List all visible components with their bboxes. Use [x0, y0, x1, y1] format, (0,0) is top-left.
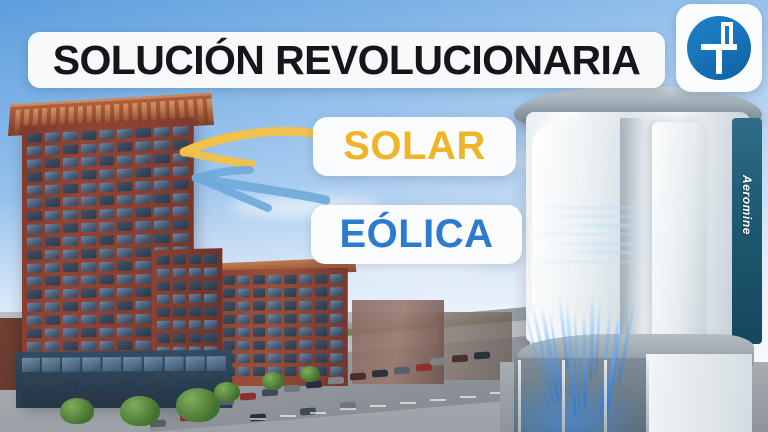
tower-window — [45, 158, 60, 168]
building-window-row — [218, 274, 348, 285]
building-window — [238, 367, 250, 376]
tower-window — [136, 168, 151, 178]
brand-logo-badge — [676, 4, 762, 92]
secondary-building — [218, 268, 348, 386]
airflow-streak-horizontal — [526, 260, 676, 263]
tower-window — [136, 221, 151, 231]
tower-window — [81, 262, 96, 271]
tower-window — [157, 269, 170, 278]
tower-window — [81, 144, 96, 154]
building-window — [223, 289, 235, 298]
turbine-strut — [518, 360, 521, 432]
tower-window — [99, 328, 114, 337]
tower-window — [136, 208, 151, 218]
building-window — [330, 314, 342, 323]
tower-window — [45, 315, 60, 324]
building-window — [238, 328, 250, 337]
logo-t-mark-icon — [687, 16, 751, 80]
tower-window — [27, 198, 42, 208]
tower-window — [173, 233, 189, 243]
building-window — [330, 274, 342, 283]
building-window — [315, 314, 327, 323]
building-window — [268, 354, 280, 363]
tower-window — [45, 302, 60, 311]
tower-window — [63, 171, 78, 181]
tower-window — [81, 302, 96, 311]
podium-glass-panel — [207, 356, 226, 371]
building-window — [268, 341, 280, 350]
lane-marking — [310, 412, 326, 414]
tower-window — [27, 250, 42, 259]
tower-window — [136, 194, 151, 204]
tower-window — [63, 315, 78, 324]
building-window — [268, 288, 280, 297]
eolica-label: EÓLICA — [339, 212, 493, 257]
building-window — [284, 301, 296, 310]
building-window — [330, 340, 342, 349]
airflow-streak-horizontal — [526, 206, 676, 209]
parked-car — [328, 376, 344, 384]
building-window — [268, 301, 280, 310]
tower-window — [27, 316, 42, 325]
turbine-intake-duct — [532, 118, 628, 340]
tower-window — [136, 181, 151, 191]
tower-window — [136, 154, 151, 164]
building-window — [223, 341, 235, 350]
building-window — [299, 301, 311, 310]
tower-window — [136, 261, 151, 271]
turbine-fin — [652, 122, 706, 340]
tower-window — [99, 288, 114, 297]
tower-window — [27, 329, 42, 338]
tower-window — [27, 172, 42, 182]
building-window — [284, 354, 296, 363]
tower-window — [99, 262, 114, 272]
building-window — [299, 314, 311, 323]
building-window — [253, 301, 265, 310]
building-window — [315, 274, 327, 283]
building-window — [330, 327, 342, 336]
tower-window — [136, 341, 151, 350]
tower-window — [99, 143, 114, 153]
tower-window — [27, 303, 42, 312]
tower-window-row — [22, 233, 194, 247]
tower-window — [117, 195, 132, 205]
tower-window — [157, 282, 170, 291]
tower-window — [117, 261, 132, 271]
tower-window — [204, 267, 217, 276]
tower-window — [136, 327, 151, 336]
airflow-glow — [516, 378, 646, 432]
page-title: SOLUCIÓN REVOLUCIONARIA — [53, 37, 641, 84]
tower-window — [63, 263, 78, 272]
tower-window — [188, 268, 201, 277]
tower-window — [173, 294, 186, 303]
tower-window — [117, 155, 132, 165]
tower-window — [117, 248, 132, 258]
tower-window — [45, 289, 60, 298]
building-window — [284, 275, 296, 284]
podium-glass-panel — [22, 358, 40, 372]
tower-window — [117, 288, 132, 297]
tower-window — [45, 276, 60, 285]
street-tree — [120, 396, 160, 426]
tower-window — [81, 249, 96, 259]
building-window — [238, 354, 250, 363]
building-window — [299, 354, 311, 363]
tower-window — [81, 170, 96, 180]
eolica-arrow — [196, 170, 326, 208]
tower-window — [157, 321, 170, 330]
lane-marking — [250, 418, 266, 420]
tower-window — [99, 169, 114, 179]
tower-window — [63, 236, 78, 246]
lane-marking — [370, 405, 386, 407]
tower-window-row — [152, 294, 222, 304]
tower-window — [81, 315, 96, 324]
tower-window — [63, 302, 78, 311]
lane-marking — [280, 415, 296, 417]
tower-window — [99, 315, 114, 324]
building-window-row — [218, 367, 348, 376]
tower-window — [63, 210, 78, 220]
tower-window — [45, 224, 60, 234]
building-window — [299, 274, 311, 283]
building-window — [253, 341, 265, 350]
tower-window — [136, 301, 151, 310]
tower-window — [27, 159, 42, 169]
building-window — [253, 314, 265, 323]
building-window — [284, 314, 296, 323]
thumbnail-canvas: Aeromine SOLUCIÓN REVOLUCIONARIA SOLAR E… — [0, 0, 768, 432]
tower-window — [117, 221, 132, 231]
tower-window — [81, 157, 96, 167]
tower-window — [204, 333, 217, 342]
building-window — [299, 288, 311, 297]
building-window-row — [218, 340, 348, 350]
aeromine-turbine: Aeromine — [500, 78, 768, 432]
parked-car — [452, 354, 468, 362]
building-window — [315, 340, 327, 349]
building-window — [223, 302, 235, 311]
tower-window — [63, 341, 78, 350]
tower-window — [136, 314, 151, 323]
tower-window — [136, 128, 151, 138]
lane-marking — [400, 402, 416, 404]
lane-marking — [340, 408, 356, 410]
podium-glass-panel — [144, 357, 163, 371]
tower-window — [173, 321, 186, 330]
tower-window — [81, 223, 96, 233]
tower-window — [27, 133, 42, 143]
building-window — [268, 327, 280, 336]
tower-window — [99, 341, 114, 350]
tower-window — [204, 320, 217, 329]
tower-window — [188, 307, 201, 316]
tower-window — [81, 275, 96, 284]
parked-car — [284, 384, 300, 392]
tower-window — [63, 197, 78, 207]
building-window — [238, 275, 250, 284]
tower-window — [45, 237, 60, 246]
tower-window — [63, 158, 78, 168]
tower-window — [99, 156, 114, 166]
street-tree — [214, 382, 240, 402]
airflow-streak-horizontal — [544, 215, 668, 218]
airflow-streak-horizontal — [544, 242, 668, 245]
parked-car — [394, 366, 410, 374]
podium-glass-panel — [42, 358, 60, 372]
tower-window-row — [152, 333, 222, 343]
tower-window — [204, 307, 217, 316]
podium-glass-panel — [186, 356, 205, 371]
building-window — [268, 314, 280, 323]
airflow-streak-horizontal — [562, 224, 660, 227]
tower-window — [188, 294, 201, 303]
podium-glass-panel — [165, 357, 184, 372]
tower-window — [173, 255, 186, 264]
building-window — [299, 340, 311, 349]
tower-window — [157, 308, 170, 317]
building-window — [315, 327, 327, 336]
parked-car — [372, 369, 388, 377]
crown-slat — [14, 110, 21, 135]
building-window — [223, 276, 235, 285]
tower-window — [136, 274, 151, 284]
tower-window — [81, 130, 96, 140]
tower-window — [157, 256, 170, 265]
podium-glass-panel — [62, 357, 80, 371]
turbine-strut — [646, 360, 649, 432]
building-window — [284, 367, 296, 376]
tower-window — [188, 320, 201, 329]
annotation-arrows — [160, 112, 330, 232]
tower-window — [81, 183, 96, 193]
building-window — [253, 354, 265, 363]
parked-car — [350, 372, 366, 380]
building-window-row — [218, 314, 348, 324]
tower-window — [173, 268, 186, 277]
logo-circle-icon — [687, 16, 751, 80]
lane-marking — [460, 396, 476, 398]
tower-window — [188, 281, 201, 290]
tower-window — [45, 145, 60, 155]
building-window — [284, 340, 296, 349]
building-window — [284, 288, 296, 297]
building-window — [238, 341, 250, 350]
tower-window — [117, 129, 132, 139]
tower-window — [173, 307, 186, 316]
tower-window — [27, 224, 42, 233]
tower-window — [188, 255, 201, 264]
tower-window — [27, 146, 42, 156]
tower-window — [63, 184, 78, 194]
street-tree — [60, 398, 94, 424]
building-window — [315, 287, 327, 296]
tower-window — [63, 249, 78, 258]
tower-window — [117, 168, 132, 178]
building-window — [223, 328, 235, 337]
tower-window — [117, 235, 132, 245]
tower-window — [27, 185, 42, 195]
building-window — [315, 301, 327, 310]
tower-window — [81, 196, 96, 206]
lane-marking — [430, 399, 446, 401]
building-window — [253, 328, 265, 337]
tower-window — [204, 254, 217, 263]
turbine-strut — [562, 360, 565, 432]
tower-window — [45, 211, 60, 221]
tower-window — [136, 141, 151, 151]
tower-window — [136, 287, 151, 296]
tower-window — [204, 294, 217, 303]
tower-window — [81, 328, 96, 337]
tower-window — [117, 208, 132, 218]
tower-window-row — [152, 307, 222, 317]
building-window — [330, 353, 342, 362]
tower-window — [81, 341, 96, 350]
tower-window — [136, 247, 151, 257]
tower-window — [63, 289, 78, 298]
building-window — [253, 288, 265, 297]
building-window — [330, 287, 342, 296]
tower-window — [99, 275, 114, 284]
building-window — [223, 315, 235, 324]
building-window — [330, 367, 342, 376]
building-window — [253, 275, 265, 284]
tower-window — [99, 196, 114, 206]
tower-window — [99, 248, 114, 258]
tower-window — [99, 182, 114, 192]
tower-window — [188, 333, 201, 342]
solar-arrow — [184, 131, 318, 164]
tower-window — [45, 250, 60, 259]
podium-glass-panel — [103, 357, 121, 371]
turbine-brand-label: Aeromine — [734, 130, 760, 280]
solar-label: SOLAR — [343, 124, 486, 169]
building-window — [284, 327, 296, 336]
tower-window — [45, 185, 60, 195]
brand-text: Aeromine — [740, 175, 754, 235]
tower-window — [99, 301, 114, 310]
solar-label-pill: SOLAR — [313, 117, 516, 176]
building-window — [268, 275, 280, 284]
tower-window — [117, 182, 132, 192]
tower-window — [99, 130, 114, 140]
tower-window — [81, 288, 96, 297]
title-banner: SOLUCIÓN REVOLUCIONARIA — [28, 32, 665, 88]
tower-window — [99, 235, 114, 245]
tower-window — [45, 171, 60, 181]
tower-window-row — [152, 267, 222, 278]
tower-window — [27, 290, 42, 299]
tower-window — [45, 198, 60, 208]
podium-glass-panel — [123, 357, 142, 371]
tower-window — [117, 341, 132, 350]
tower-window — [63, 131, 78, 141]
tower-window — [81, 209, 96, 219]
street-tree — [262, 372, 284, 390]
tower-window — [204, 281, 217, 290]
tower-window — [173, 334, 186, 343]
building-window — [315, 353, 327, 362]
parked-car — [474, 351, 490, 359]
podium-glass-panel — [82, 357, 100, 371]
tower-window — [157, 334, 170, 343]
tower-window — [27, 277, 42, 286]
parked-car — [430, 357, 446, 365]
tower-window — [27, 264, 42, 273]
tower-window — [157, 295, 170, 304]
building-window — [299, 327, 311, 336]
tower-window — [27, 211, 42, 221]
tower-window — [117, 142, 132, 152]
tower-window — [136, 234, 151, 244]
tower-window — [45, 342, 60, 351]
tower-window — [45, 263, 60, 272]
building-window-row — [218, 287, 348, 298]
tower-window — [117, 314, 132, 323]
tower-window-row — [152, 280, 222, 291]
building-window-row — [218, 353, 348, 363]
tower-window — [117, 301, 132, 310]
tower-window-row — [152, 320, 222, 330]
tower-window — [117, 274, 132, 283]
tower-window — [63, 328, 78, 337]
street-tree — [300, 366, 320, 382]
tower-window — [173, 281, 186, 290]
tower-window — [117, 328, 132, 337]
turbine-strut — [604, 360, 607, 432]
tower-window — [27, 237, 42, 246]
tower-window — [63, 144, 78, 154]
building-window — [238, 289, 250, 298]
turbine-support-leg — [646, 354, 752, 432]
tower-window — [45, 132, 60, 142]
eolica-label-pill: EÓLICA — [311, 205, 522, 264]
tower-window — [81, 236, 96, 246]
tower-window — [45, 328, 60, 337]
airflow-streak-horizontal — [526, 233, 676, 236]
building-window-row — [218, 327, 348, 337]
tower-window-row — [152, 254, 222, 265]
building-window — [238, 302, 250, 311]
building-window — [238, 315, 250, 324]
tower-window — [63, 223, 78, 233]
tower-window — [99, 209, 114, 219]
airflow-streak-horizontal — [562, 251, 660, 254]
building-window-row — [218, 300, 348, 311]
tower-window — [154, 234, 170, 244]
tower-window — [63, 276, 78, 285]
parked-car — [240, 392, 256, 400]
tower-window — [27, 342, 42, 351]
building-window — [330, 300, 342, 309]
tower-window — [99, 222, 114, 232]
